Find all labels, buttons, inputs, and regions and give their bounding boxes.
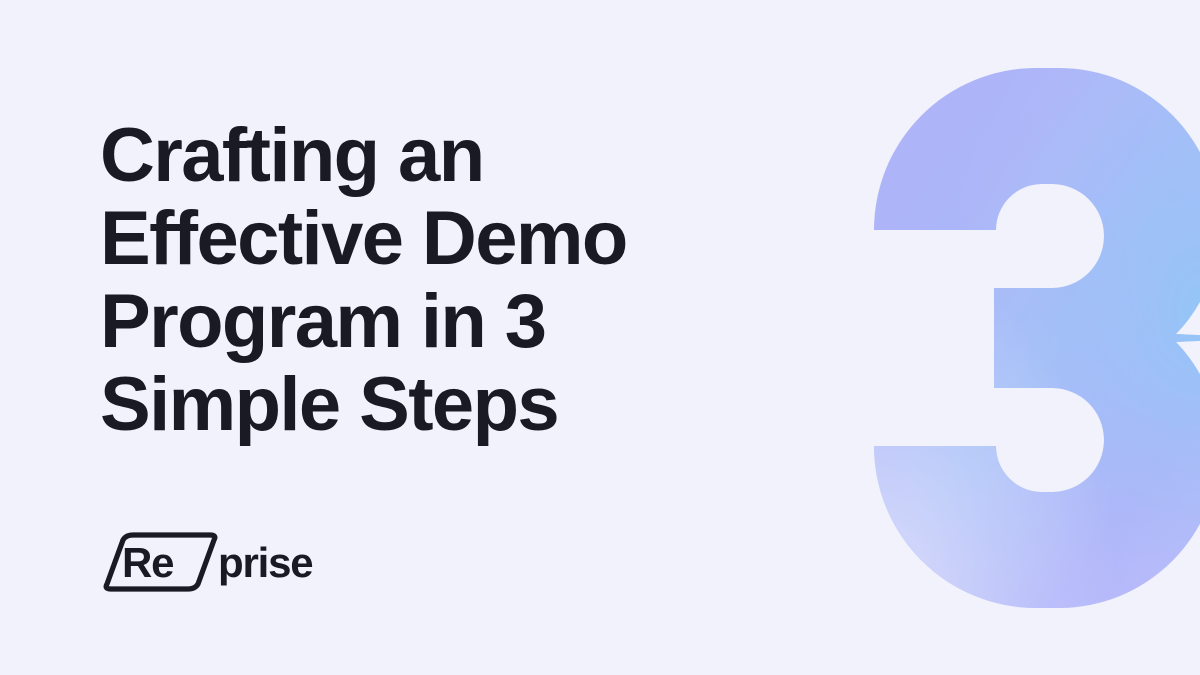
headline-line-3: Program in 3 xyxy=(100,280,760,363)
logo-boxed-text: Re xyxy=(122,539,173,586)
title-card: Crafting an Effective Demo Program in 3 … xyxy=(0,0,1200,675)
reprise-logo[interactable]: Reprise Re prise xyxy=(100,532,332,594)
decorative-numeral-container xyxy=(800,0,1200,675)
numeral-three-icon xyxy=(844,38,1200,638)
reprise-logo-icon: Re prise xyxy=(100,532,332,594)
headline-line-2: Effective Demo xyxy=(100,197,760,280)
headline-line-4: Simple Steps xyxy=(100,363,760,446)
page-title: Crafting an Effective Demo Program in 3 … xyxy=(100,114,760,446)
headline-line-1: Crafting an xyxy=(100,114,760,197)
logo-plain-text: prise xyxy=(218,539,312,586)
